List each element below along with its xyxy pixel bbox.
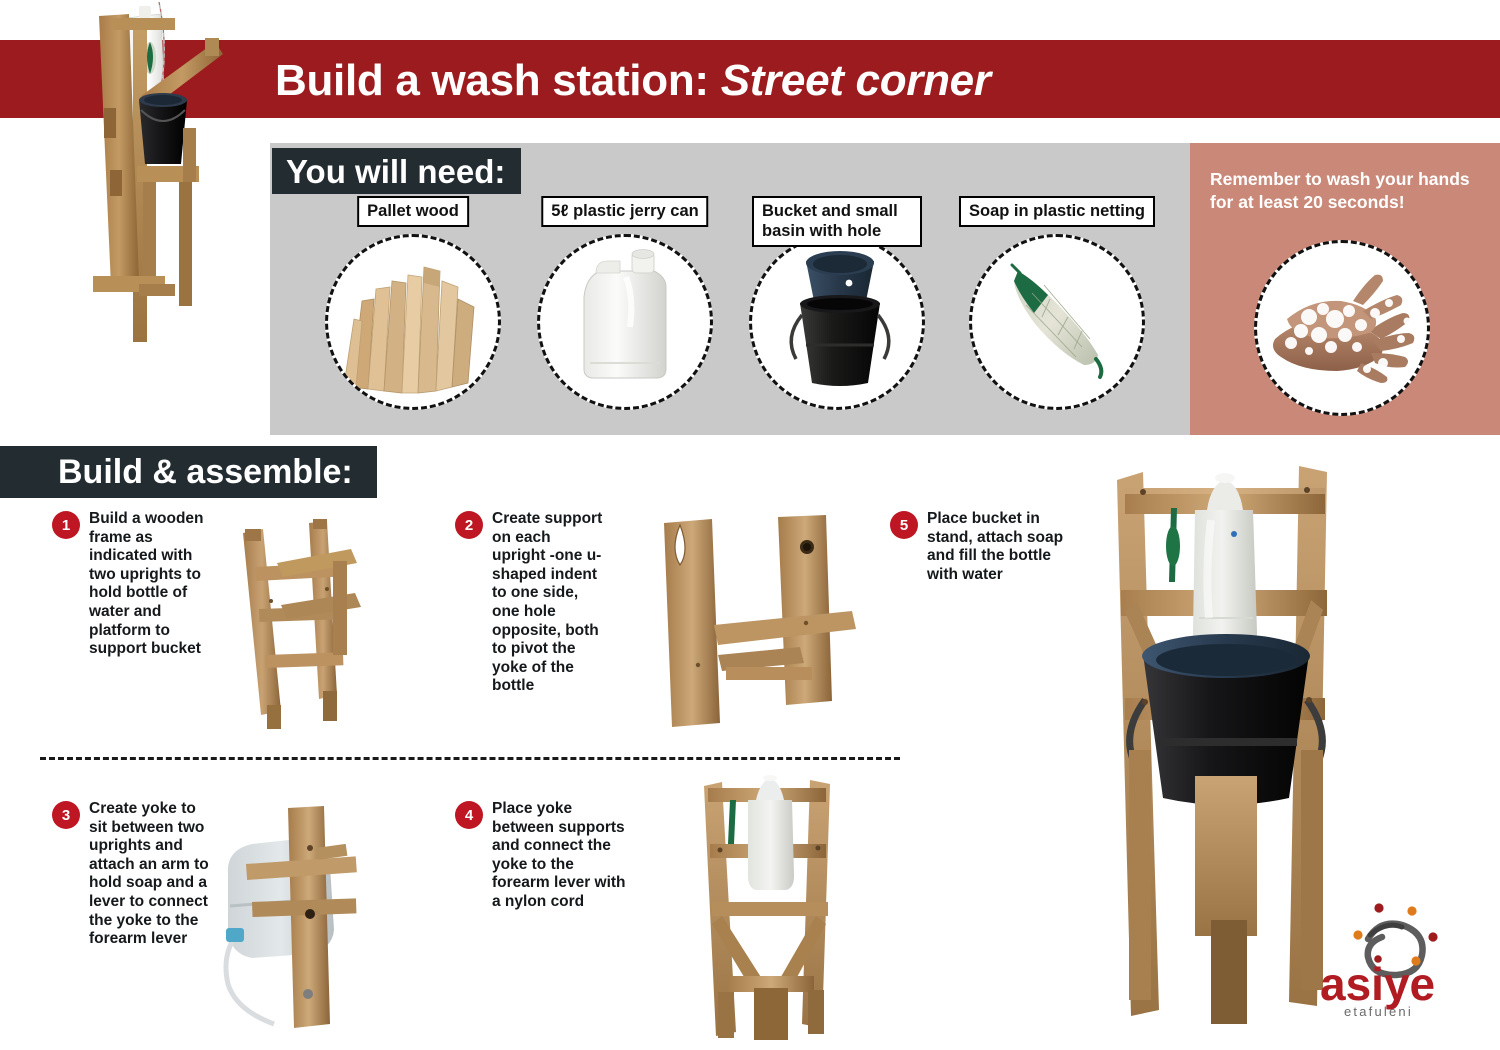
step1-frame-photo: [215, 505, 405, 740]
build-section-header: Build & assemble:: [0, 446, 377, 498]
step-number-badge: 2: [455, 511, 483, 539]
hero-wash-station-photo: [55, 0, 255, 430]
section-divider: [40, 757, 900, 760]
step-description: Create yoke to sit between two uprights …: [89, 800, 212, 949]
build-step-3: 3 Create yoke to sit between two upright…: [52, 800, 212, 949]
step-description: Place yoke between supports and connect …: [492, 800, 630, 912]
step-number-badge: 1: [52, 511, 80, 539]
material-label: Soap in plastic netting: [959, 196, 1155, 227]
build-section-title: Build & assemble:: [58, 455, 353, 489]
step4-assembly-photo: [668, 770, 868, 1050]
jerry-can-icon: [537, 234, 713, 410]
pallet-wood-icon: [325, 234, 501, 410]
bucket-basin-icon: [749, 234, 925, 410]
materials-section-title: You will need:: [286, 155, 505, 188]
step2-uprights-photo: [640, 505, 870, 740]
material-item-jerry-can: 5ℓ plastic jerry can: [530, 196, 720, 428]
material-item-pallet-wood: Pallet wood: [318, 196, 508, 428]
material-item-bucket-basin: Bucket and small basin with hole: [742, 196, 932, 428]
page-title-emphasis: Street corner: [721, 56, 991, 105]
material-label: Bucket and small basin with hole: [752, 196, 922, 247]
page-title-main: Build a wash station:: [275, 56, 709, 105]
step-number-badge: 5: [890, 511, 918, 539]
build-step-2: 2 Create support on each upright -one u-…: [455, 510, 605, 696]
step-description: Place bucket in stand, attach soap and f…: [927, 510, 1075, 584]
logo-tagline: etafuleni: [1344, 1004, 1413, 1019]
material-label: 5ℓ plastic jerry can: [541, 196, 708, 227]
step3-yoke-photo: [212, 788, 402, 1043]
page-title: Build a wash station: Street corner: [275, 52, 1375, 110]
logo-wordmark: asiye: [1320, 958, 1435, 1010]
build-step-1: 1 Build a wooden frame as indicated with…: [52, 510, 212, 659]
remember-message: Remember to wash your hands for at least…: [1210, 168, 1490, 214]
material-item-soap-netting: Soap in plastic netting: [962, 196, 1152, 428]
build-step-5: 5 Place bucket in stand, attach soap and…: [890, 510, 1075, 584]
soap-netting-icon: [969, 234, 1145, 410]
step-description: Create support on each upright -one u-sh…: [492, 510, 605, 696]
build-step-4: 4 Place yoke between supports and connec…: [455, 800, 630, 912]
material-label: Pallet wood: [357, 196, 469, 227]
step-number-badge: 4: [455, 801, 483, 829]
asiye-etafuleni-logo: asiye etafuleni: [1310, 895, 1480, 1020]
step-number-badge: 3: [52, 801, 80, 829]
step-description: Build a wooden frame as indicated with t…: [89, 510, 212, 659]
materials-section-header: You will need:: [272, 148, 521, 194]
soapy-hands-icon: [1254, 240, 1430, 416]
